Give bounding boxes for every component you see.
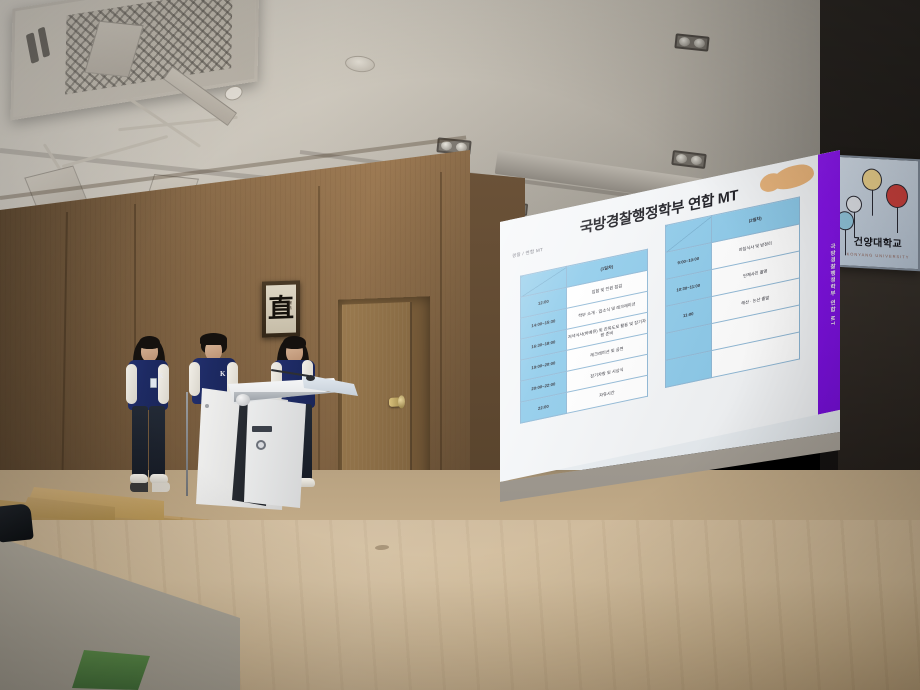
power-button-icon[interactable]: [256, 440, 266, 450]
hair-top: [283, 336, 306, 349]
jacket-sleeve: [126, 364, 137, 404]
shoe: [130, 474, 148, 483]
balloon-icon: [862, 168, 882, 191]
slide-accent-bar: 국방경찰행정학부 연합 MT: [818, 150, 840, 415]
jacket-letter: K: [158, 372, 163, 380]
balloon-icon: [846, 195, 862, 213]
lectern-knob-icon[interactable]: [236, 394, 250, 406]
lectern-front-panel: [244, 396, 306, 508]
backpack: [0, 503, 34, 543]
microphone-icon: [306, 375, 315, 381]
photo-scene: 直 書法 건양대학교 KONYANG UNIVERSITY K: [0, 0, 920, 690]
shoe: [150, 474, 168, 483]
schedule-table-day2-body: (2일차)9:00~10:00아침식사 및 방정리10:30~11:00단체사진…: [666, 197, 800, 387]
balloon-icon: [886, 183, 908, 208]
schedule-table-day1: (1일차)12:00집합 및 인원 점검14:00~15:30학부 소개 · 입…: [520, 249, 648, 424]
jacket-sleeve: [158, 364, 169, 404]
trousers: [149, 406, 165, 478]
calligraphy-side-text: 書法: [287, 301, 293, 311]
door-handle-icon[interactable]: [389, 397, 403, 407]
banner-university-name: 건양대학교: [838, 232, 918, 251]
green-floor-mat: [72, 650, 150, 690]
lectern-display: [252, 426, 272, 432]
hair-top: [139, 336, 160, 349]
shoes-on-stage: [130, 482, 170, 492]
screen-surface: 국방경찰행정학부 연합 MT 경찰 / 연합 MT 국방경찰행정학부 연합 MT…: [492, 150, 842, 470]
schedule-table-day1-body: (1일차)12:00집합 및 인원 점검14:00~15:30학부 소개 · 입…: [521, 249, 648, 423]
slide-vertical-title: 국방경찰행정학부 연합 MT: [828, 243, 836, 328]
university-banner: 건양대학교 KONYANG UNIVERSITY: [836, 155, 920, 271]
lectern-vent: [205, 404, 209, 408]
projection-screen: 국방경찰행정학부 연합 MT 경찰 / 연합 MT 국방경찰행정학부 연합 MT…: [492, 150, 842, 510]
presentation-slide: 국방경찰행정학부 연합 MT 경찰 / 연합 MT 국방경찰행정학부 연합 MT…: [500, 150, 840, 482]
id-badge: [150, 378, 157, 388]
schedule-table-day2: (2일차)9:00~10:00아침식사 및 방정리10:30~11:00단체사진…: [665, 196, 800, 388]
mic-stand: [186, 392, 188, 496]
jacket-letter: K: [220, 370, 225, 378]
calligraphy-frame: 直 書法: [262, 280, 300, 337]
jacket-sleeve: [189, 362, 200, 396]
banner-university-subtitle: KONYANG UNIVERSITY: [838, 251, 918, 260]
trousers: [132, 406, 148, 478]
calligraphy-paper: 直 書法: [266, 284, 296, 333]
hair-top: [200, 333, 227, 345]
